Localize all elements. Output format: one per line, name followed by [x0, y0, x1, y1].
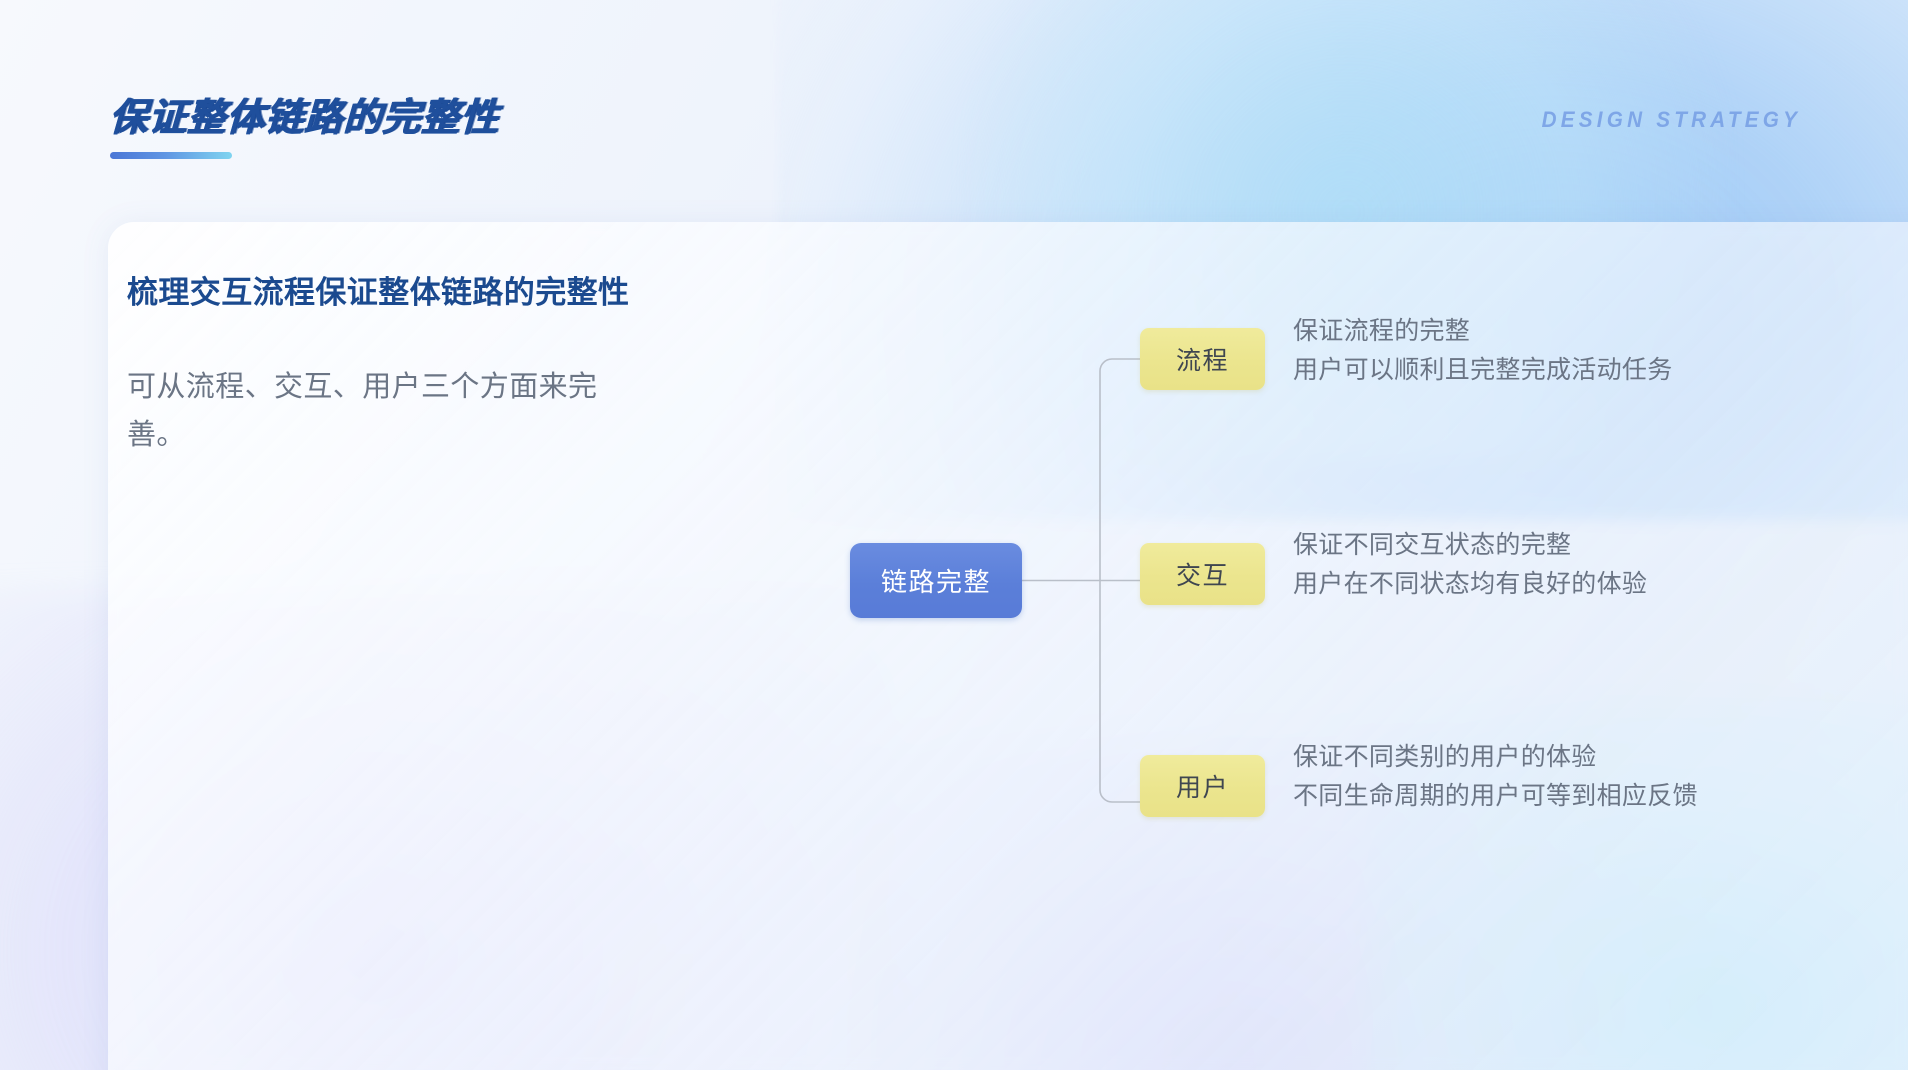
- mindmap-root-node[interactable]: 链路完整: [850, 543, 1022, 618]
- description-line-2: 用户可以顺利且完整完成活动任务: [1293, 351, 1763, 390]
- description-line-1: 保证流程的完整: [1293, 312, 1763, 351]
- mindmap-branch-label-user: 用户: [1176, 768, 1229, 804]
- title-underline-accent: [110, 152, 232, 159]
- mindmap-branch-description-interaction: 保证不同交互状态的完整 用户在不同状态均有良好的体验: [1293, 526, 1763, 604]
- mindmap-branch-description-user: 保证不同类别的用户的体验 不同生命周期的用户可等到相应反馈: [1293, 738, 1763, 816]
- slide-root: 保证整体链路的完整性 DESIGN STRATEGY 梳理交互流程保证整体链路的…: [0, 0, 1908, 1070]
- mindmap-branch-node-flow[interactable]: 流程: [1140, 328, 1265, 390]
- description-line-1: 保证不同交互状态的完整: [1293, 526, 1763, 565]
- description-line-1: 保证不同类别的用户的体验: [1293, 738, 1763, 777]
- left-panel-heading: 梳理交互流程保证整体链路的完整性: [127, 268, 637, 317]
- mindmap-root-label: 链路完整: [881, 562, 991, 599]
- left-panel-body: 可从流程、交互、用户三个方面来完善。: [127, 363, 637, 459]
- description-line-2: 用户在不同状态均有良好的体验: [1293, 565, 1763, 604]
- mindmap-branch-node-user[interactable]: 用户: [1140, 755, 1265, 817]
- mindmap-branch-label-flow: 流程: [1176, 341, 1229, 377]
- header-eyebrow-label: DESIGN STRATEGY: [1541, 107, 1801, 133]
- mindmap: 链路完整 流程 保证流程的完整 用户可以顺利且完整完成活动任务 交互 保证不同交…: [740, 300, 1760, 880]
- page-title: 保证整体链路的完整性: [108, 96, 500, 140]
- mindmap-branch-label-interaction: 交互: [1176, 556, 1229, 592]
- mindmap-branch-description-flow: 保证流程的完整 用户可以顺利且完整完成活动任务: [1293, 312, 1763, 390]
- left-text-panel: 梳理交互流程保证整体链路的完整性 可从流程、交互、用户三个方面来完善。: [127, 268, 637, 459]
- description-line-2: 不同生命周期的用户可等到相应反馈: [1293, 777, 1763, 816]
- slide-header: 保证整体链路的完整性 DESIGN STRATEGY: [0, 0, 1908, 222]
- mindmap-branch-node-interaction[interactable]: 交互: [1140, 543, 1265, 605]
